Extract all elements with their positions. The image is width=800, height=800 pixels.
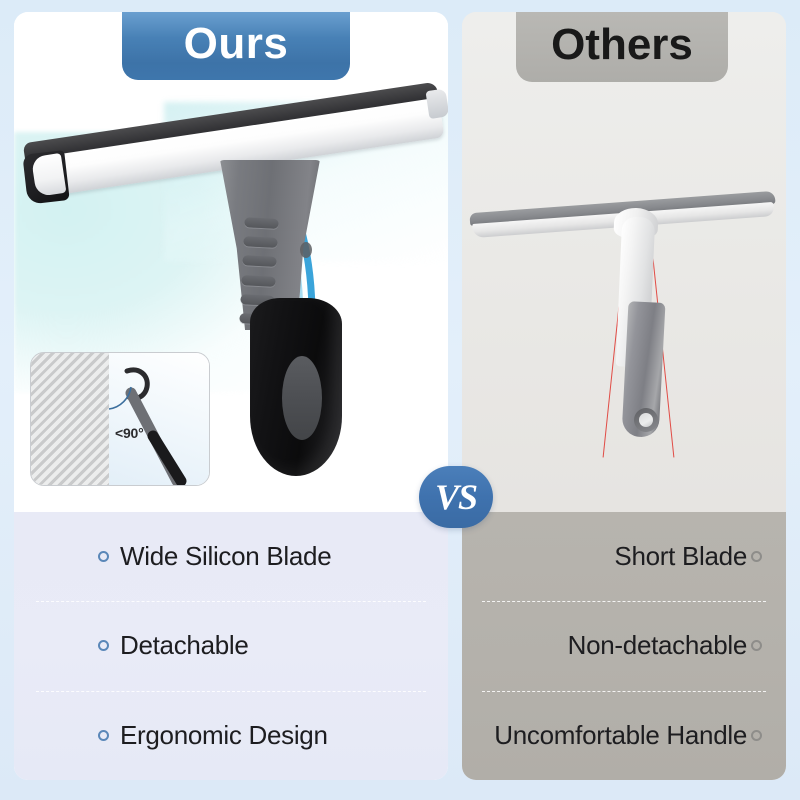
others-feature-list: Short Blade Non-detachable Uncomfortable… bbox=[462, 512, 786, 780]
bullet-circle-icon bbox=[751, 730, 762, 741]
bullet-circle-icon bbox=[751, 640, 762, 651]
vs-badge-label: VS bbox=[435, 479, 477, 515]
bullet-circle-icon bbox=[98, 551, 109, 562]
ours-feature-list: Wide Silicon Blade Detachable Ergonomic … bbox=[14, 512, 448, 780]
angle-detail-inset: <90° bbox=[30, 352, 210, 486]
comparison-infographic: <90° Ours Wide Silicon Blade Detachable … bbox=[0, 0, 800, 800]
list-item: Non-detachable bbox=[462, 601, 786, 690]
feature-label: Uncomfortable Handle bbox=[494, 720, 747, 751]
ours-product-area: <90° bbox=[14, 12, 448, 512]
list-item: Ergonomic Design bbox=[14, 691, 448, 780]
others-panel: Others Short Blade Non-detachable Uncomf… bbox=[462, 12, 786, 780]
feature-label: Ergonomic Design bbox=[120, 720, 328, 751]
vs-badge: VS bbox=[419, 466, 493, 528]
others-product-area bbox=[462, 12, 786, 512]
list-item: Detachable bbox=[14, 601, 448, 690]
list-item: Uncomfortable Handle bbox=[462, 691, 786, 780]
ours-tab-label: Ours bbox=[184, 22, 289, 66]
ours-blade-right-tip bbox=[425, 88, 448, 119]
angle-label: <90° bbox=[115, 425, 144, 441]
ours-panel: <90° Ours Wide Silicon Blade Detachable … bbox=[14, 12, 448, 780]
feature-label: Detachable bbox=[120, 630, 249, 661]
others-tab-label: Others bbox=[551, 23, 693, 67]
list-item: Short Blade bbox=[462, 512, 786, 601]
bullet-circle-icon bbox=[98, 730, 109, 741]
feature-label: Wide Silicon Blade bbox=[120, 541, 331, 572]
others-hanging-hole bbox=[639, 413, 653, 427]
ours-tab: Ours bbox=[122, 12, 350, 80]
ours-handle-insert bbox=[282, 356, 322, 440]
bullet-circle-icon bbox=[751, 551, 762, 562]
feature-label: Short Blade bbox=[614, 541, 747, 572]
ours-neck-detail-dot bbox=[300, 242, 312, 258]
feature-label: Non-detachable bbox=[568, 630, 747, 661]
bullet-circle-icon bbox=[98, 640, 109, 651]
angle-diagram-icon bbox=[31, 353, 209, 485]
others-tab: Others bbox=[516, 12, 728, 82]
list-item: Wide Silicon Blade bbox=[14, 512, 448, 601]
